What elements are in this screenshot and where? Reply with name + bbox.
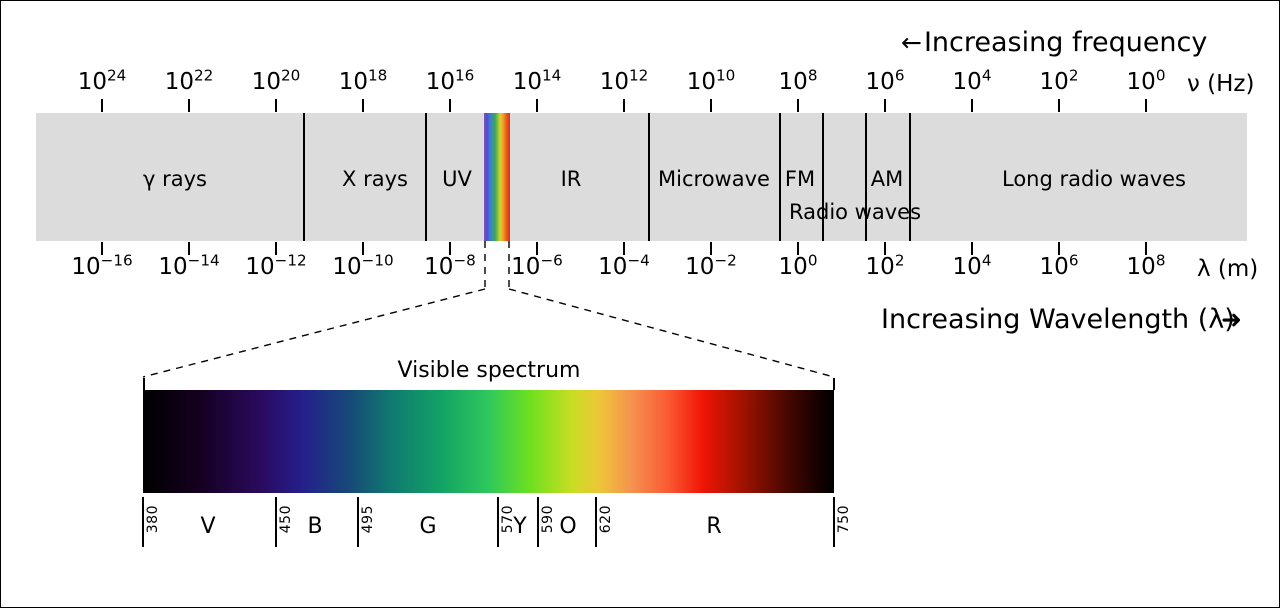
visible-color-letter: B xyxy=(307,514,322,539)
band-region-label: UV xyxy=(442,167,472,191)
wavelength-tick-label: 106 xyxy=(1040,254,1079,280)
frequency-tick-label: 1024 xyxy=(78,69,127,95)
frequency-tick xyxy=(449,99,451,112)
visible-box-right-tick xyxy=(833,378,835,390)
band-region-label: Microwave xyxy=(658,167,770,191)
visible-wavelength-tick xyxy=(833,497,835,547)
wavelength-tick-label: 10−4 xyxy=(598,254,650,280)
frequency-tick-label: 1010 xyxy=(687,69,736,95)
electromagnetic-spectrum-diagram: ←Increasing frequency 102410221020101810… xyxy=(0,0,1280,608)
visible-wavelength-tick xyxy=(275,497,277,547)
visible-box-left-tick xyxy=(143,378,145,390)
visible-spectrum-title: Visible spectrum xyxy=(398,358,581,383)
visible-wavelength-value: 620 xyxy=(598,505,614,533)
band-region-label: X rays xyxy=(342,167,408,191)
frequency-tick-label: 1020 xyxy=(252,69,301,95)
wavelength-tick-label: 10−8 xyxy=(424,254,476,280)
frequency-tick xyxy=(536,99,538,112)
band-divider xyxy=(779,113,781,241)
frequency-tick-label: 100 xyxy=(1127,69,1166,95)
frequency-tick-label: 1018 xyxy=(339,69,388,95)
frequency-tick xyxy=(101,99,103,112)
wavelength-tick-label: 10−14 xyxy=(158,254,219,280)
visible-wavelength-tick xyxy=(537,497,539,547)
band-divider xyxy=(425,113,427,241)
frequency-unit-label: ν (Hz) xyxy=(1187,71,1254,97)
wavelength-tick-label: 108 xyxy=(1127,254,1166,280)
increasing-frequency-caption: ←Increasing frequency xyxy=(901,27,1207,58)
frequency-tick xyxy=(275,99,277,112)
em-spectrum-band: γ raysX raysUVIRMicrowaveFMAMLong radio … xyxy=(36,113,1247,241)
frequency-tick xyxy=(362,99,364,112)
wavelength-tick-label: 104 xyxy=(953,254,992,280)
frequency-tick xyxy=(1058,99,1060,112)
visible-color-letter: R xyxy=(706,514,721,539)
frequency-tick xyxy=(884,99,886,112)
band-region-label: IR xyxy=(561,167,582,191)
wavelength-tick-label: 10−12 xyxy=(245,254,306,280)
visible-spectrum-gradient xyxy=(143,390,834,493)
left-arrow-icon: ← xyxy=(901,28,922,57)
wavelength-tick-label: 10−2 xyxy=(685,254,737,280)
visible-light-strip-icon xyxy=(484,113,510,241)
right-arrow-icon: ➜ xyxy=(1221,305,1242,334)
visible-color-letter: O xyxy=(559,514,576,539)
visible-wavelength-value: 590 xyxy=(540,505,556,533)
visible-wavelength-tick xyxy=(142,497,144,547)
band-divider xyxy=(648,113,650,241)
visible-color-letter: V xyxy=(200,514,215,539)
increasing-wavelength-label: Increasing Wavelength (λ) xyxy=(881,304,1235,335)
increasing-wavelength-caption: Increasing Wavelength (λ) ➜ xyxy=(881,304,1235,335)
wavelength-tick-label: 10−6 xyxy=(511,254,563,280)
wavelength-unit-label: λ (m) xyxy=(1197,256,1258,282)
visible-color-letter: Y xyxy=(513,514,526,539)
visible-wavelength-value: 495 xyxy=(360,505,376,533)
band-region-label: FM xyxy=(785,167,815,191)
visible-wavelength-value: 380 xyxy=(145,505,161,533)
frequency-tick-label: 1016 xyxy=(426,69,475,95)
frequency-tick xyxy=(797,99,799,112)
visible-color-letter: G xyxy=(419,514,436,539)
frequency-tick-label: 1014 xyxy=(513,69,562,95)
frequency-tick-label: 106 xyxy=(866,69,905,95)
visible-wavelength-tick xyxy=(595,497,597,547)
wavelength-tick-label: 10−16 xyxy=(71,254,132,280)
wavelength-tick-label: 102 xyxy=(866,254,905,280)
frequency-tick-label: 1022 xyxy=(165,69,214,95)
visible-wavelength-tick xyxy=(357,497,359,547)
band-region-label: AM xyxy=(871,167,903,191)
frequency-tick xyxy=(1145,99,1147,112)
band-region-label: Long radio waves xyxy=(1002,167,1186,191)
frequency-tick-label: 1012 xyxy=(600,69,649,95)
frequency-tick-label: 104 xyxy=(953,69,992,95)
wavelength-tick-label: 100 xyxy=(779,254,818,280)
frequency-tick-label: 108 xyxy=(779,69,818,95)
frequency-tick-label: 102 xyxy=(1040,69,1079,95)
band-region-label: Radio waves xyxy=(789,200,921,224)
frequency-tick xyxy=(188,99,190,112)
visible-wavelength-value: 750 xyxy=(836,505,852,533)
band-divider xyxy=(303,113,305,241)
visible-wavelength-tick xyxy=(497,497,499,547)
visible-wavelength-value: 450 xyxy=(278,505,294,533)
wavelength-tick-label: 10−10 xyxy=(332,254,393,280)
band-region-label: γ rays xyxy=(143,167,207,191)
frequency-tick xyxy=(623,99,625,112)
frequency-tick xyxy=(971,99,973,112)
frequency-tick xyxy=(710,99,712,112)
increasing-frequency-label: Increasing frequency xyxy=(924,27,1207,58)
